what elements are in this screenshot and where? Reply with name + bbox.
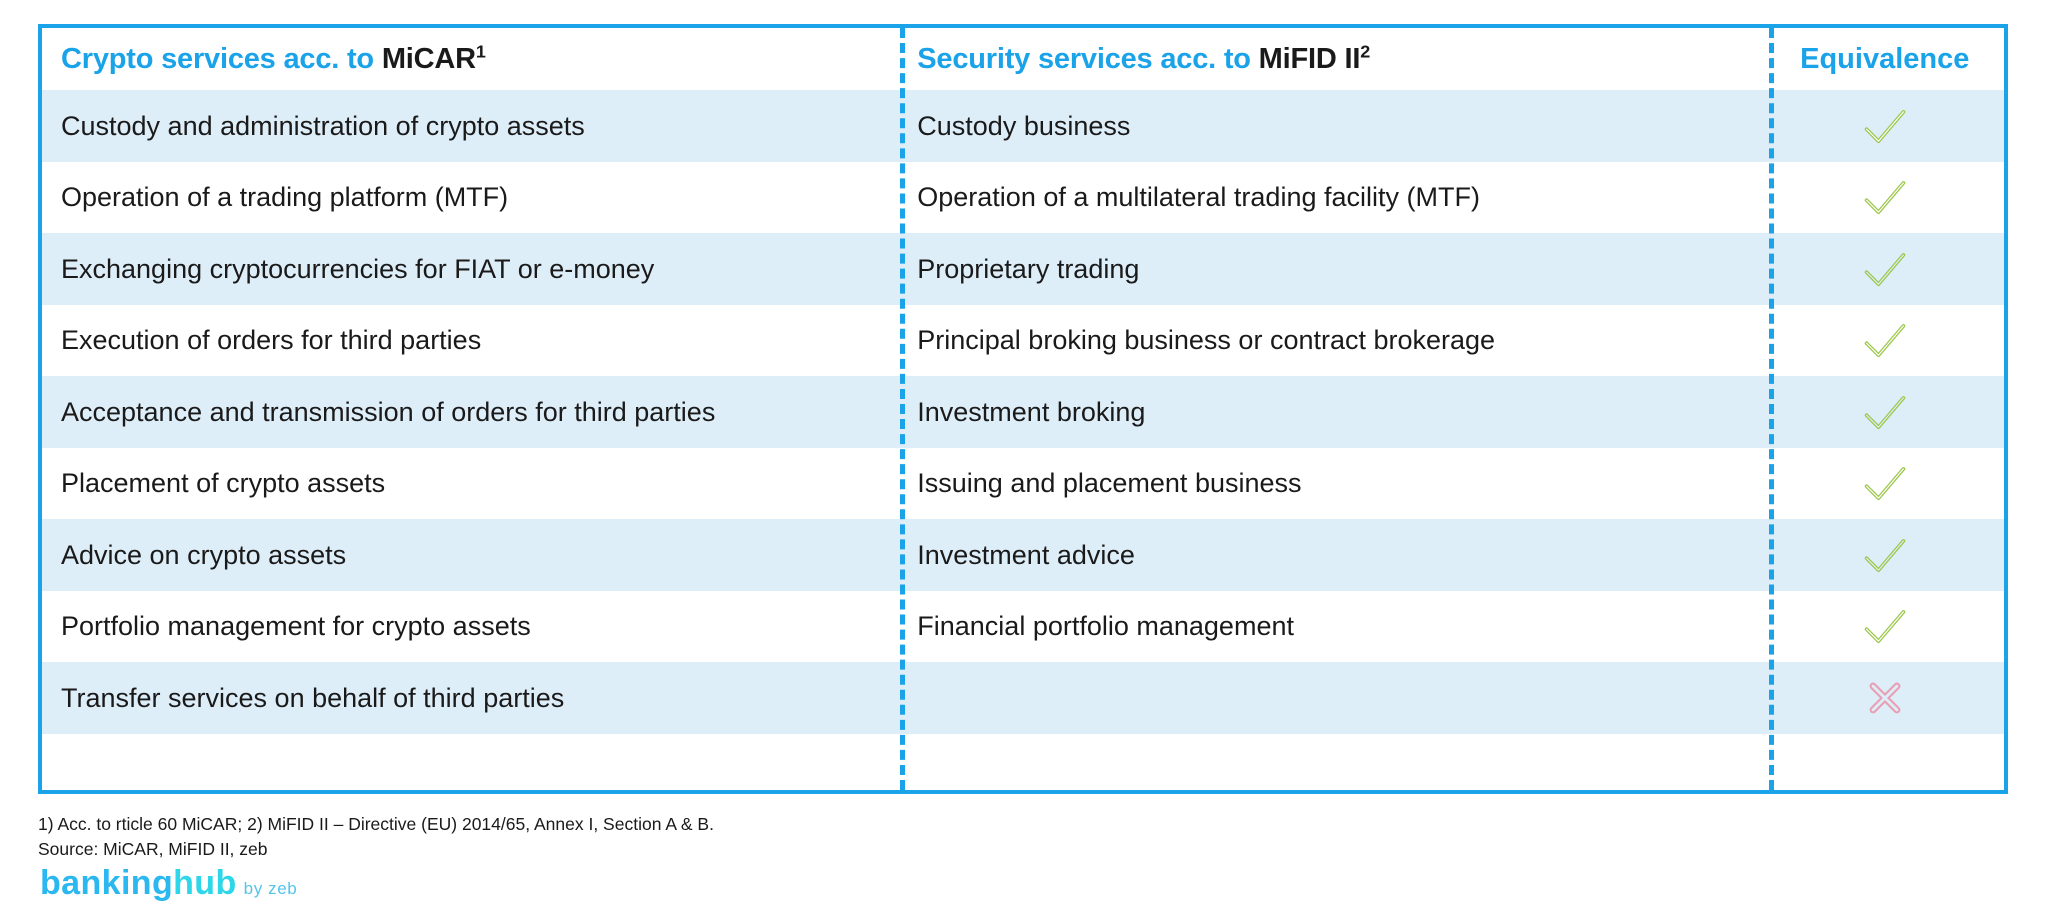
table-row: Acceptance and transmission of orders fo… bbox=[42, 376, 2004, 448]
security-service-label: Investment broking bbox=[917, 396, 1145, 428]
cell-equivalence bbox=[1766, 519, 2005, 591]
cell-crypto-service: Exchanging cryptocurrencies for FIAT or … bbox=[42, 233, 898, 305]
cross-icon bbox=[1859, 672, 1911, 724]
cell-security-service: Proprietary trading bbox=[898, 233, 1765, 305]
header-crypto-footnote-marker: 1 bbox=[476, 41, 486, 61]
cell-security-service: Financial portfolio management bbox=[898, 591, 1765, 663]
header-label-security-services: Security services acc. to MiFID II2 bbox=[917, 43, 1370, 76]
cell-equivalence bbox=[1766, 376, 2005, 448]
table-row: Transfer services on behalf of third par… bbox=[42, 662, 2004, 734]
cell-equivalence bbox=[1766, 448, 2005, 520]
crypto-service-label: Custody and administration of crypto ass… bbox=[61, 110, 585, 142]
cell-crypto-service: Placement of crypto assets bbox=[42, 448, 898, 520]
check-icon bbox=[1859, 457, 1911, 509]
security-service-label: Issuing and placement business bbox=[917, 467, 1301, 499]
logo-tagline-by-zeb: by zeb bbox=[244, 879, 298, 899]
cell-security-service: Investment broking bbox=[898, 376, 1765, 448]
cell-equivalence bbox=[1766, 233, 2005, 305]
header-cell-equivalence: Equivalence bbox=[1766, 28, 2005, 90]
cell-crypto-service: Custody and administration of crypto ass… bbox=[42, 90, 898, 162]
check-icon bbox=[1859, 600, 1911, 652]
security-service-label: Proprietary trading bbox=[917, 253, 1139, 285]
table-row: Placement of crypto assets Issuing and p… bbox=[42, 448, 2004, 520]
cell-crypto-service: Acceptance and transmission of orders fo… bbox=[42, 376, 898, 448]
cell-security-service bbox=[898, 662, 1765, 734]
footnote-line-1: 1) Acc. to rticle 60 MiCAR; 2) MiFID II … bbox=[38, 812, 714, 837]
security-service-label: Operation of a multilateral trading faci… bbox=[917, 181, 1480, 213]
security-service-label: Investment advice bbox=[917, 539, 1135, 571]
crypto-service-label: Acceptance and transmission of orders fo… bbox=[61, 396, 715, 428]
crypto-service-label: Portfolio management for crypto assets bbox=[61, 610, 531, 642]
table-row: Operation of a trading platform (MTF) Op… bbox=[42, 162, 2004, 234]
header-crypto-prefix: Crypto services acc. to bbox=[61, 43, 382, 75]
cell-equivalence bbox=[1766, 305, 2005, 377]
check-icon bbox=[1859, 314, 1911, 366]
footnote-block: 1) Acc. to rticle 60 MiCAR; 2) MiFID II … bbox=[38, 812, 714, 862]
cell-security-service: Issuing and placement business bbox=[898, 448, 1765, 520]
table-row: Exchanging cryptocurrencies for FIAT or … bbox=[42, 233, 2004, 305]
cell-security-service: Custody business bbox=[898, 90, 1765, 162]
comparison-table: Crypto services acc. to MiCAR1 Security … bbox=[38, 24, 2008, 794]
logo-word-banking: banking bbox=[40, 864, 173, 903]
table-body: Crypto services acc. to MiCAR1 Security … bbox=[42, 28, 2004, 790]
cell-crypto-service: Portfolio management for crypto assets bbox=[42, 591, 898, 663]
header-security-prefix: Security services acc. to bbox=[917, 43, 1258, 75]
slide-canvas: Crypto services acc. to MiCAR1 Security … bbox=[0, 0, 2048, 910]
crypto-service-label: Transfer services on behalf of third par… bbox=[61, 682, 564, 714]
cell-security-service: Investment advice bbox=[898, 519, 1765, 591]
cell-security-service: Operation of a multilateral trading faci… bbox=[898, 162, 1765, 234]
cell-equivalence bbox=[1766, 591, 2005, 663]
check-icon bbox=[1859, 243, 1911, 295]
cell-crypto-service: Execution of orders for third parties bbox=[42, 305, 898, 377]
crypto-service-label: Operation of a trading platform (MTF) bbox=[61, 181, 508, 213]
security-service-label: Principal broking business or contract b… bbox=[917, 324, 1495, 356]
check-icon bbox=[1859, 386, 1911, 438]
footnote-line-2: Source: MiCAR, MiFID II, zeb bbox=[38, 837, 714, 862]
crypto-service-label: Placement of crypto assets bbox=[61, 467, 385, 499]
cell-crypto-service: Transfer services on behalf of third par… bbox=[42, 662, 898, 734]
header-security-emphasis: MiFID II bbox=[1259, 43, 1361, 75]
cell-crypto-service: Advice on crypto assets bbox=[42, 519, 898, 591]
header-label-equivalence: Equivalence bbox=[1766, 43, 2005, 76]
cell-equivalence bbox=[1766, 662, 2005, 734]
check-icon bbox=[1859, 100, 1911, 152]
crypto-service-label: Exchanging cryptocurrencies for FIAT or … bbox=[61, 253, 654, 285]
table-row: Custody and administration of crypto ass… bbox=[42, 90, 2004, 162]
cell-equivalence bbox=[1766, 162, 2005, 234]
security-service-label: Custody business bbox=[917, 110, 1130, 142]
cell-equivalence bbox=[1766, 90, 2005, 162]
header-label-crypto-services: Crypto services acc. to MiCAR1 bbox=[61, 43, 486, 76]
cell-security-service: Principal broking business or contract b… bbox=[898, 305, 1765, 377]
header-security-footnote-marker: 2 bbox=[1360, 41, 1370, 61]
security-service-label: Financial portfolio management bbox=[917, 610, 1294, 642]
check-icon bbox=[1859, 171, 1911, 223]
header-cell-security-services: Security services acc. to MiFID II2 bbox=[898, 28, 1765, 90]
cell-crypto-service: Operation of a trading platform (MTF) bbox=[42, 162, 898, 234]
crypto-service-label: Advice on crypto assets bbox=[61, 539, 346, 571]
crypto-service-label: Execution of orders for third parties bbox=[61, 324, 481, 356]
table-row: Advice on crypto assets Investment advic… bbox=[42, 519, 2004, 591]
table-header-row: Crypto services acc. to MiCAR1 Security … bbox=[42, 28, 2004, 90]
header-crypto-emphasis: MiCAR bbox=[382, 43, 476, 75]
logo-word-hub: hub bbox=[173, 864, 237, 903]
table-row: Execution of orders for third parties Pr… bbox=[42, 305, 2004, 377]
bankinghub-logo[interactable]: banking hub by zeb bbox=[40, 864, 297, 903]
check-icon bbox=[1859, 529, 1911, 581]
header-cell-crypto-services: Crypto services acc. to MiCAR1 bbox=[42, 28, 898, 90]
table-row: Portfolio management for crypto assets F… bbox=[42, 591, 2004, 663]
